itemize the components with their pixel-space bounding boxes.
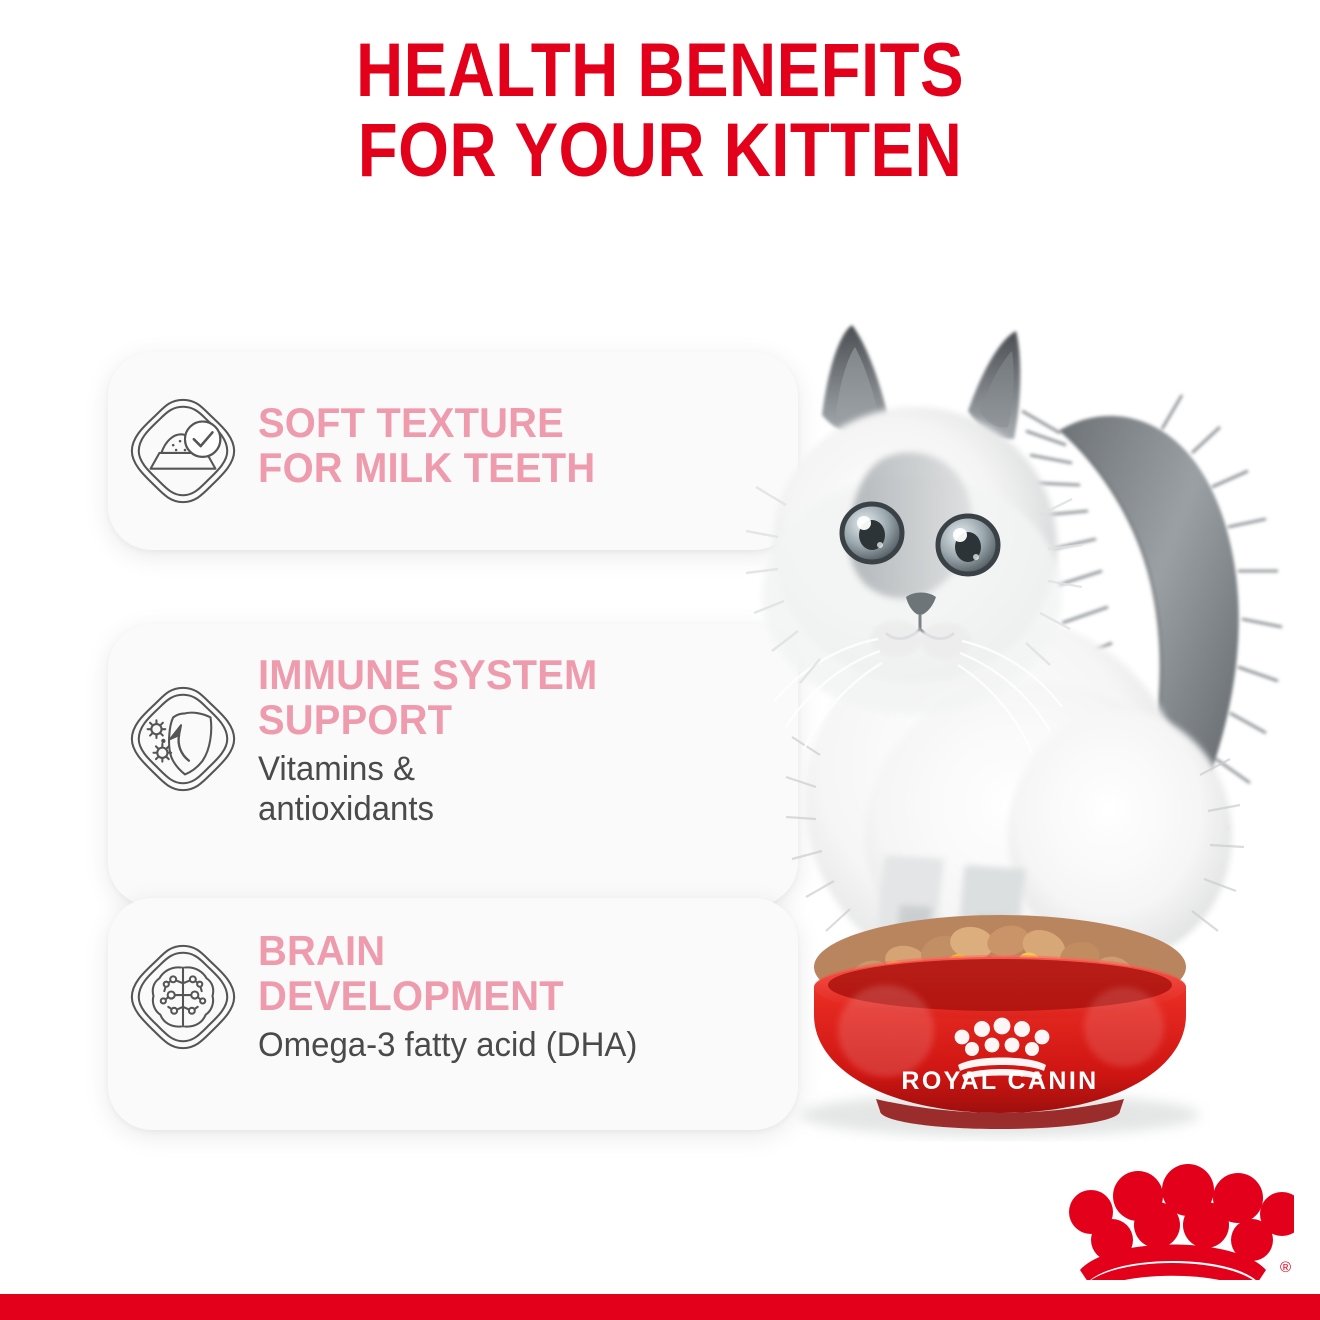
title-line-2: FOR YOUR KITTEN — [92, 114, 1227, 188]
kitten-photo: ROYAL CANIN ® — [700, 215, 1300, 1145]
benefit-text-2: IMMUNE SYSTEM SUPPORT Vitamins & antioxi… — [258, 624, 615, 829]
benefit-heading-3: BRAIN DEVELOPMENT — [258, 928, 630, 1019]
benefit-card-soft-texture: SOFT TEXTURE FOR MILK TEETH — [108, 352, 798, 550]
bowl-trademark: ® — [1164, 1070, 1172, 1082]
footer-red-bar — [0, 1294, 1320, 1320]
benefit-card-immune-system: IMMUNE SYSTEM SUPPORT Vitamins & antioxi… — [108, 624, 798, 906]
benefit-subtext-2: Vitamins & antioxidants — [258, 749, 605, 829]
page-title: HEALTH BENEFITS FOR YOUR KITTEN — [0, 34, 1320, 187]
benefit-heading-1: SOFT TEXTURE FOR MILK TEETH — [258, 400, 595, 491]
bowl-brand-text: ROYAL CANIN — [901, 1067, 1098, 1095]
logo-trademark: ® — [1280, 1259, 1291, 1276]
benefit-card-brain-development: BRAIN DEVELOPMENT Omega-3 fatty acid (DH… — [108, 898, 798, 1130]
title-line-1: HEALTH BENEFITS — [92, 34, 1227, 108]
benefit-text-3: BRAIN DEVELOPMENT Omega-3 fatty acid (DH… — [258, 898, 649, 1065]
royal-canin-crown-logo: ® — [1046, 1162, 1294, 1280]
food-bowl-check-icon — [108, 352, 258, 550]
benefit-text-1: SOFT TEXTURE FOR MILK TEETH — [258, 352, 613, 497]
page-root: HEALTH BENEFITS FOR YOUR KITTEN — [0, 0, 1320, 1320]
benefit-subtext-3: Omega-3 fatty acid (DHA) — [258, 1025, 637, 1065]
food-bowl: ROYAL CANIN ® — [800, 915, 1200, 1137]
benefit-heading-2: IMMUNE SYSTEM SUPPORT — [258, 652, 597, 743]
brain-icon — [108, 898, 258, 1096]
shield-germ-icon — [108, 624, 258, 854]
